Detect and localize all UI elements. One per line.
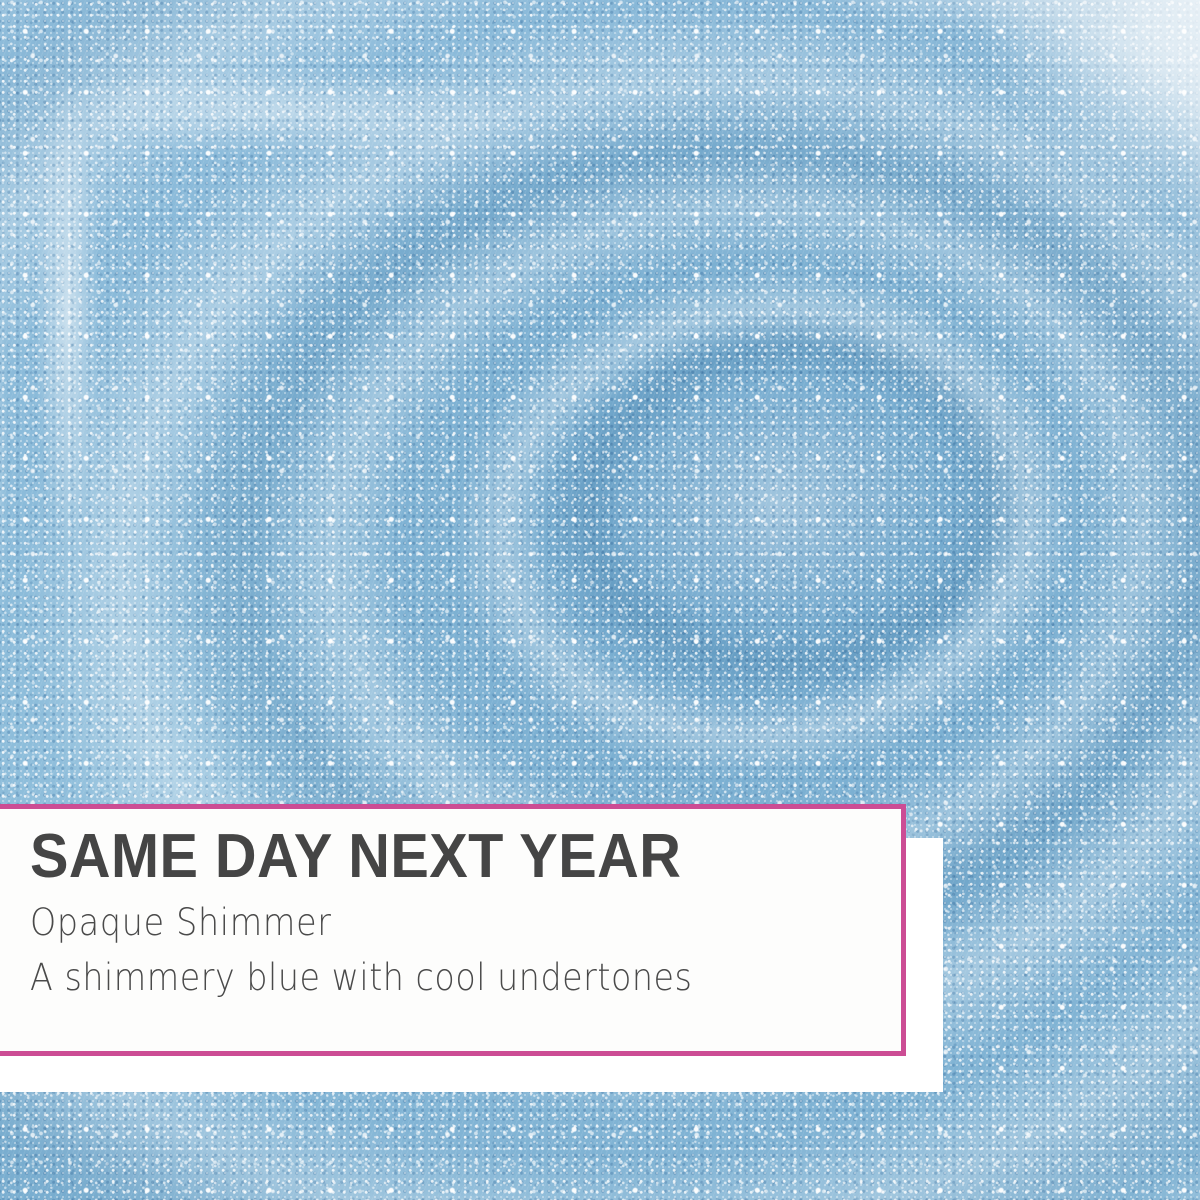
polish-finish-label: Opaque Shimmer xyxy=(30,900,804,945)
polish-swatch-card: SAME DAY NEXT YEAR Opaque Shimmer A shim… xyxy=(0,0,1200,1200)
polish-description: A shimmery blue with cool undertones xyxy=(30,955,804,1000)
polish-name-title: SAME DAY NEXT YEAR xyxy=(30,825,830,888)
label-text-group: SAME DAY NEXT YEAR Opaque Shimmer A shim… xyxy=(30,825,890,1000)
